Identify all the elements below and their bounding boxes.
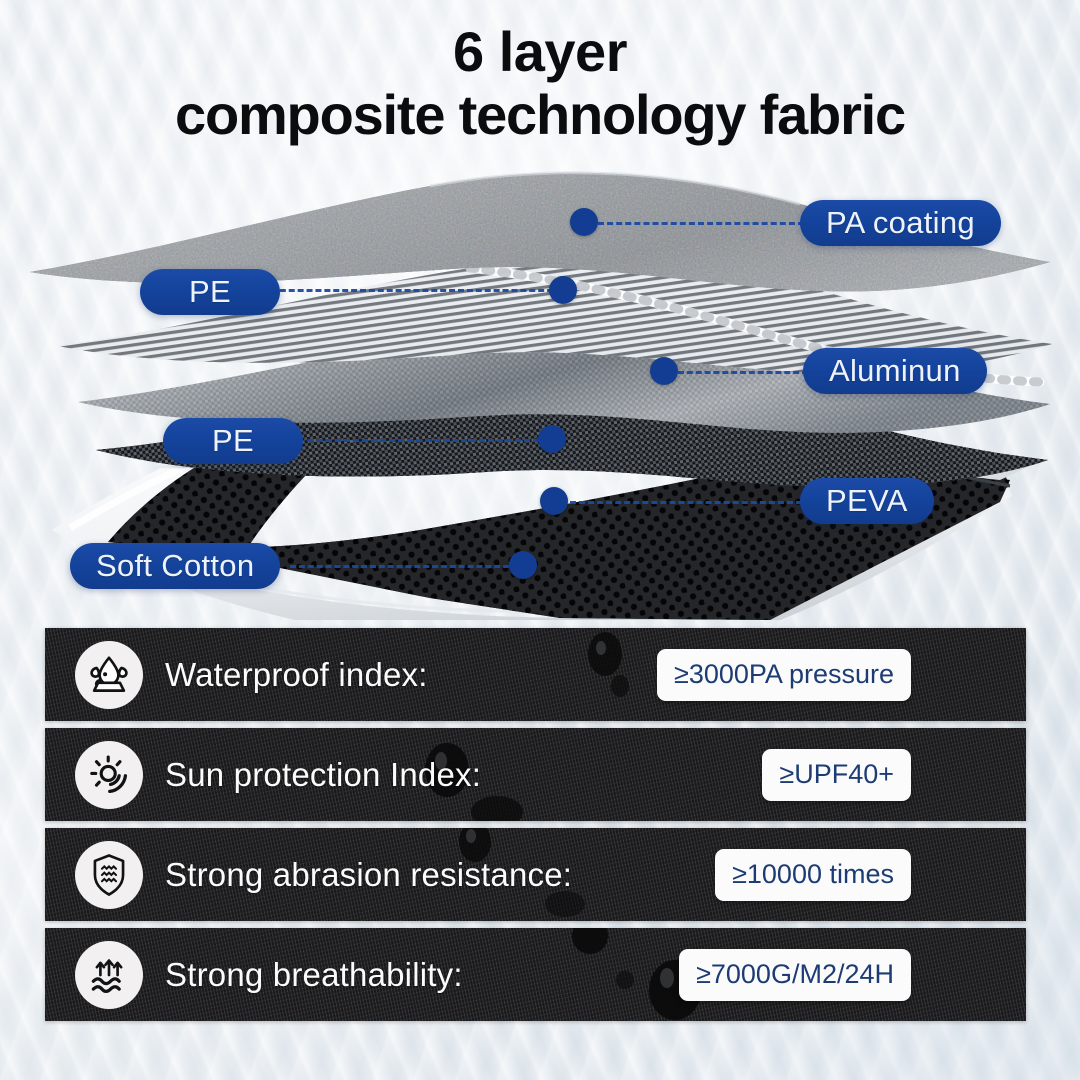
infographic-canvas: 6 layer composite technology fabric bbox=[0, 0, 1080, 1080]
breathability-arrows-icon bbox=[75, 941, 143, 1009]
page-title: 6 layer composite technology fabric bbox=[0, 22, 1080, 147]
connector-dot-pa-coating bbox=[570, 208, 598, 236]
spec-label-waterproof: Waterproof index: bbox=[165, 656, 428, 694]
spec-row-breathability[interactable]: Strong breathability: ≥7000G/M2/24H bbox=[45, 928, 1026, 1021]
spec-value-abrasion-resistance[interactable]: ≥10000 times bbox=[715, 849, 911, 901]
spec-row-sun-protection[interactable]: Sun protection Index: ≥UPF40+ bbox=[45, 728, 1026, 821]
spec-value-breathability[interactable]: ≥7000G/M2/24H bbox=[679, 949, 911, 1001]
connector-dot-aluminum bbox=[650, 357, 678, 385]
connector-line-pe-upper bbox=[262, 289, 562, 292]
spec-label-breathability: Strong breathability: bbox=[165, 956, 463, 994]
connector-line-peva bbox=[570, 501, 802, 504]
layer-label-soft-cotton[interactable]: Soft Cotton bbox=[70, 543, 280, 589]
connector-dot-peva bbox=[540, 487, 568, 515]
layer-label-aluminum[interactable]: Aluminun bbox=[803, 348, 987, 394]
connector-line-soft-cotton bbox=[290, 565, 518, 568]
page-title-line-2: composite technology fabric bbox=[0, 84, 1080, 147]
waterproof-droplet-icon bbox=[75, 641, 143, 709]
layer-label-pe-upper[interactable]: PE bbox=[140, 269, 280, 315]
connector-dot-soft-cotton bbox=[509, 551, 537, 579]
connector-line-pe-lower bbox=[308, 439, 548, 442]
connector-dot-pe-lower bbox=[538, 425, 566, 453]
layer-label-pe-lower[interactable]: PE bbox=[163, 418, 303, 464]
spec-label-sun-protection: Sun protection Index: bbox=[165, 756, 481, 794]
page-title-line-1: 6 layer bbox=[0, 22, 1080, 82]
spec-row-waterproof[interactable]: Waterproof index: ≥3000PA pressure bbox=[45, 628, 1026, 721]
connector-line-aluminum bbox=[678, 371, 808, 374]
spec-value-sun-protection[interactable]: ≥UPF40+ bbox=[762, 749, 911, 801]
spec-list: Waterproof index: ≥3000PA pressure bbox=[45, 628, 1026, 1028]
connector-line-pa-coating bbox=[598, 222, 804, 225]
spec-value-waterproof[interactable]: ≥3000PA pressure bbox=[657, 649, 911, 701]
layer-label-peva[interactable]: PEVA bbox=[800, 478, 934, 524]
spec-label-abrasion-resistance: Strong abrasion resistance: bbox=[165, 856, 572, 894]
sun-protection-icon bbox=[75, 741, 143, 809]
connector-dot-pe-upper bbox=[549, 276, 577, 304]
layer-label-pa-coating[interactable]: PA coating bbox=[800, 200, 1001, 246]
spec-row-abrasion-resistance[interactable]: Strong abrasion resistance: ≥10000 times bbox=[45, 828, 1026, 921]
abrasion-shield-icon bbox=[75, 841, 143, 909]
